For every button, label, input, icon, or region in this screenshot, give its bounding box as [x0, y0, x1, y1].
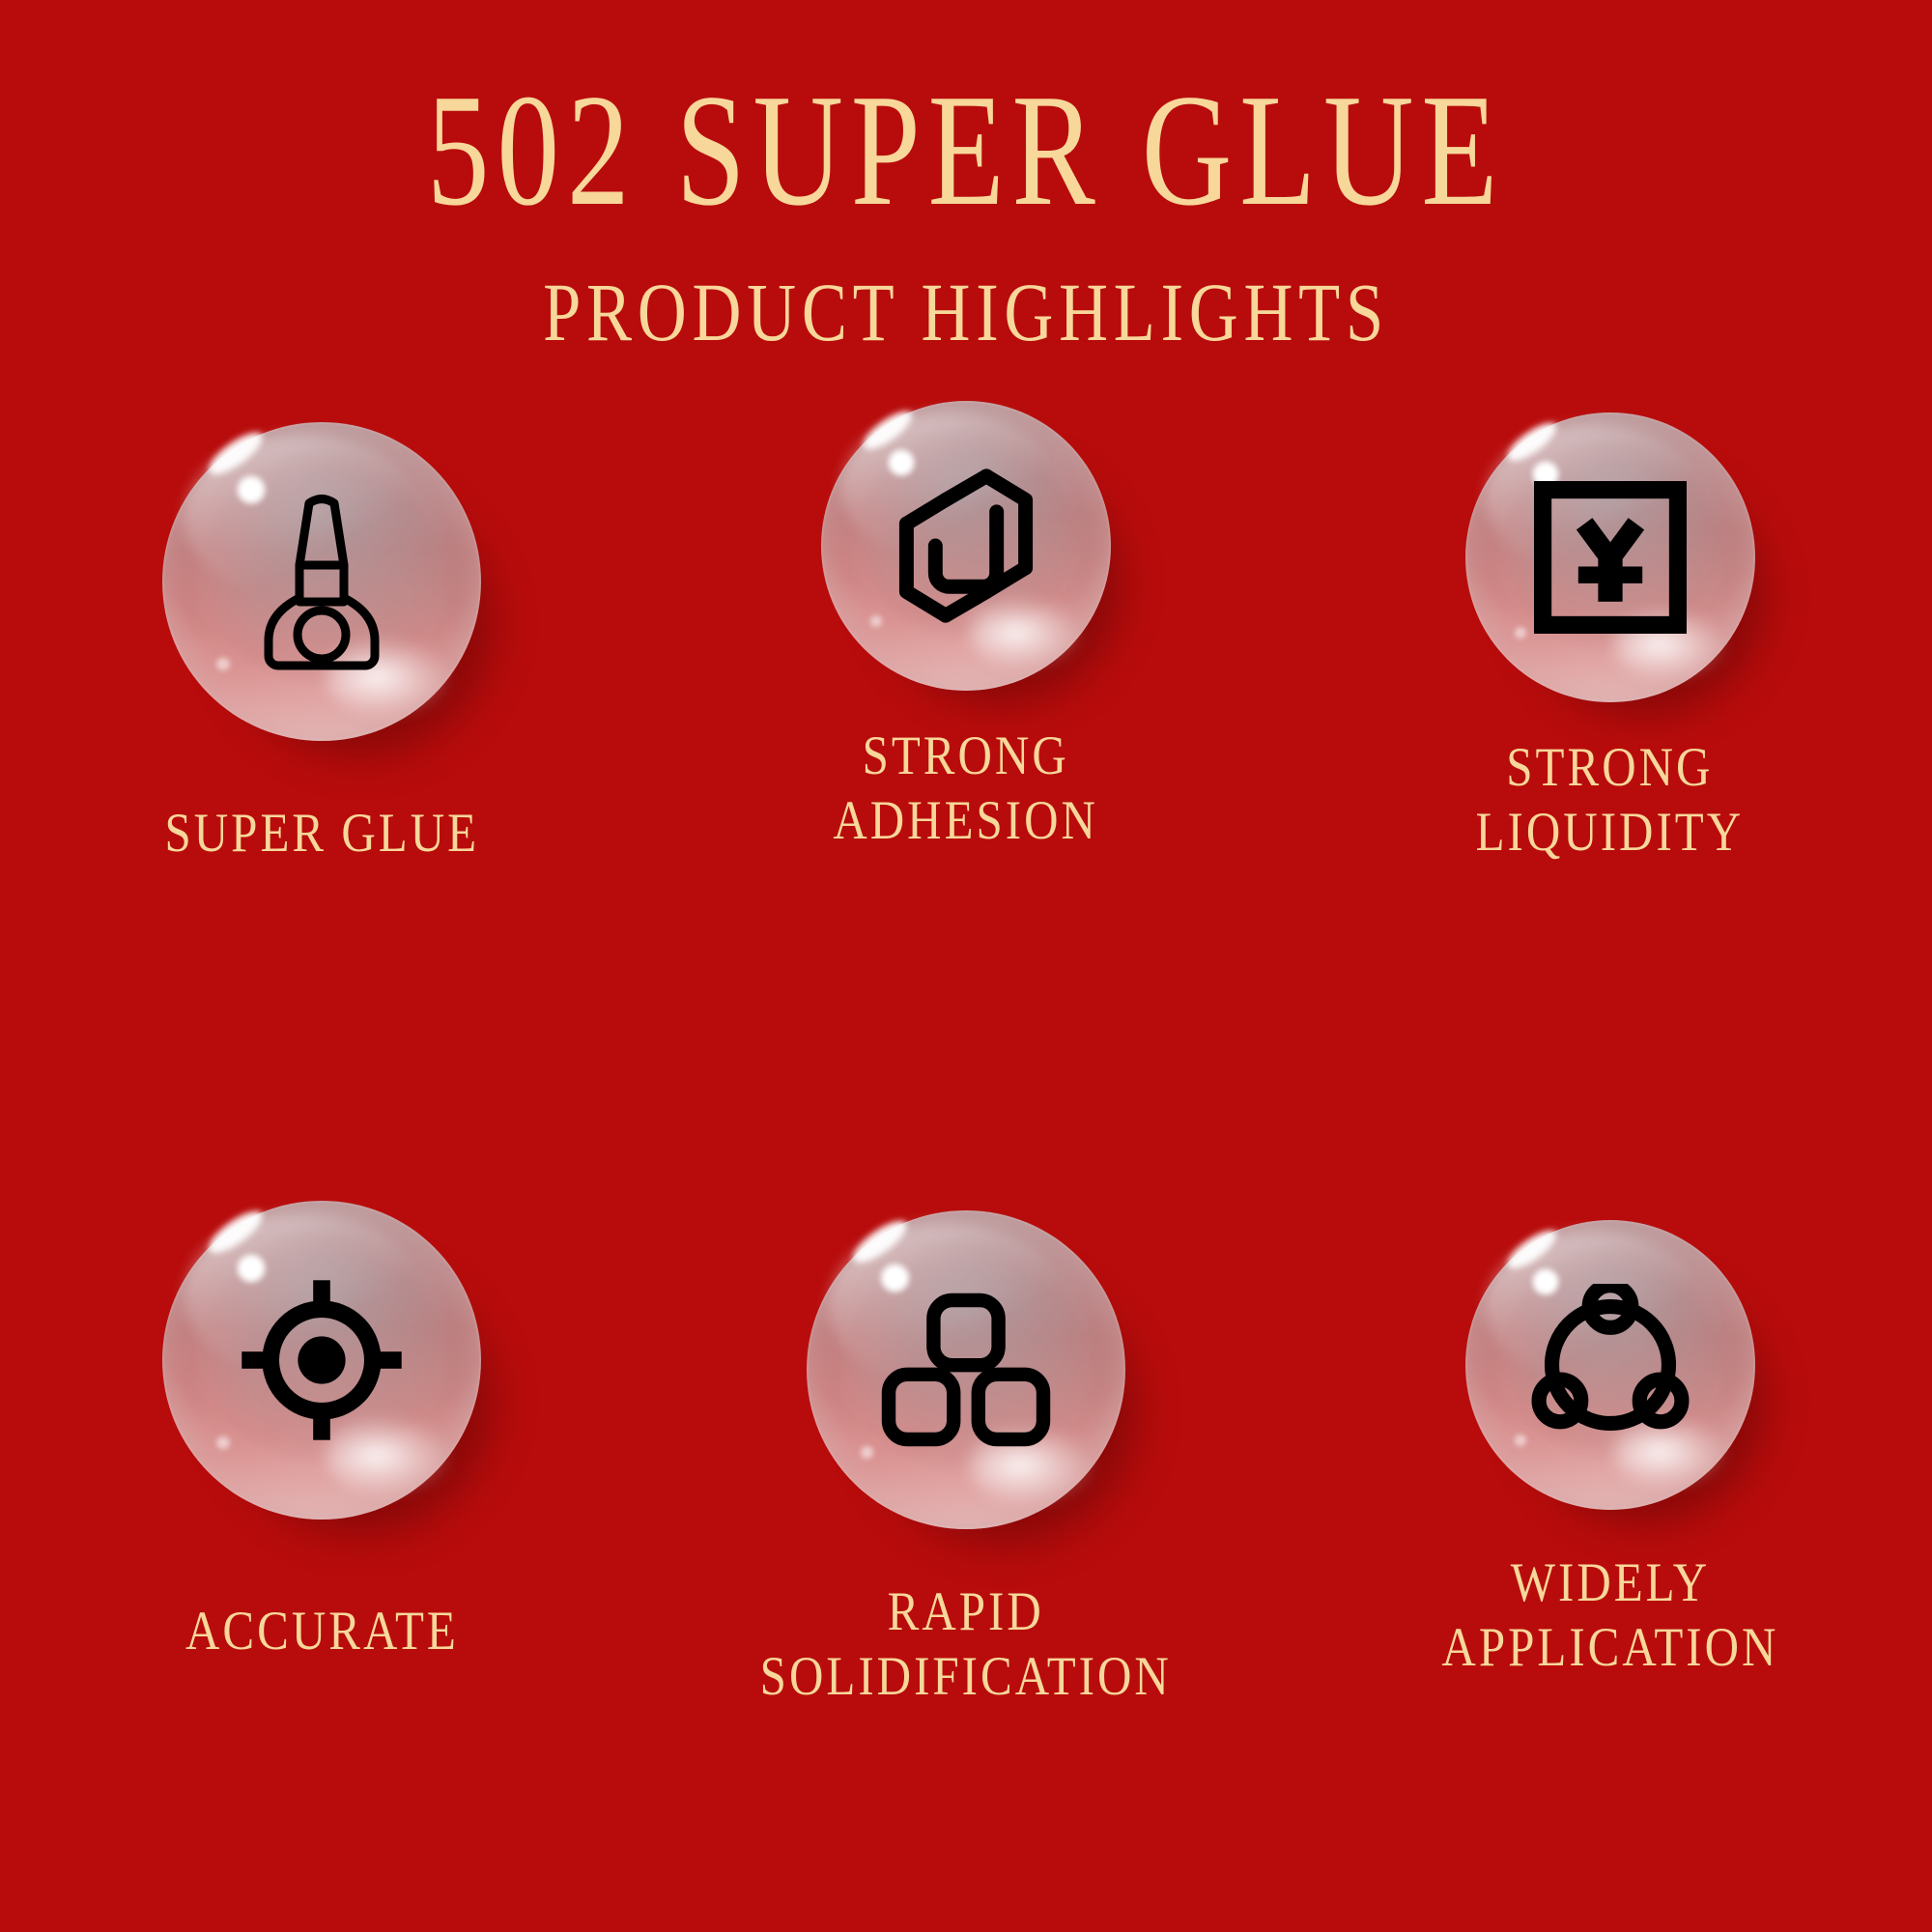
bubble-strong-liquidity [1465, 412, 1755, 702]
glass-sphere [162, 1201, 481, 1520]
feature-item-strong-liquidity[interactable]: STRONG LIQUIDITY [1288, 391, 1932, 1058]
feature-label: WIDELY APPLICATION [1441, 1550, 1778, 1681]
feature-item-accurate[interactable]: ACCURATE [0, 1058, 644, 1724]
bubble-rapid-solidification [807, 1210, 1125, 1529]
glass-sphere [807, 1210, 1125, 1529]
feature-item-widely-application[interactable]: WIDELY APPLICATION [1288, 1058, 1932, 1724]
feature-label: SUPER GLUE [165, 801, 480, 866]
glass-sphere [821, 401, 1111, 691]
feature-item-super-glue[interactable]: SUPER GLUE [0, 391, 644, 1058]
bubble-super-glue [162, 422, 481, 741]
page-subtitle: PRODUCT HIGHLIGHTS [174, 270, 1758, 354]
feature-label: ACCURATE [185, 1599, 459, 1663]
header: 502 SUPER GLUE PRODUCT HIGHLIGHTS [0, 0, 1932, 354]
bubble-strong-adhesion [821, 401, 1111, 691]
feature-label: STRONG ADHESION [834, 724, 1099, 854]
glass-sphere [1465, 412, 1755, 702]
bubble-widely-application [1465, 1220, 1755, 1510]
glass-sphere [162, 422, 481, 741]
glass-sphere [1465, 1220, 1755, 1510]
page-title: 502 SUPER GLUE [213, 70, 1719, 230]
feature-label: RAPID SOLIDIFICATION [760, 1579, 1172, 1710]
bubble-accurate [162, 1201, 481, 1520]
feature-item-strong-adhesion[interactable]: STRONG ADHESION [644, 391, 1289, 1058]
feature-grid: SUPER GLUE STRONG [0, 391, 1932, 1724]
feature-label: STRONG LIQUIDITY [1476, 735, 1745, 866]
feature-item-rapid-solidification[interactable]: RAPID SOLIDIFICATION [644, 1058, 1289, 1724]
